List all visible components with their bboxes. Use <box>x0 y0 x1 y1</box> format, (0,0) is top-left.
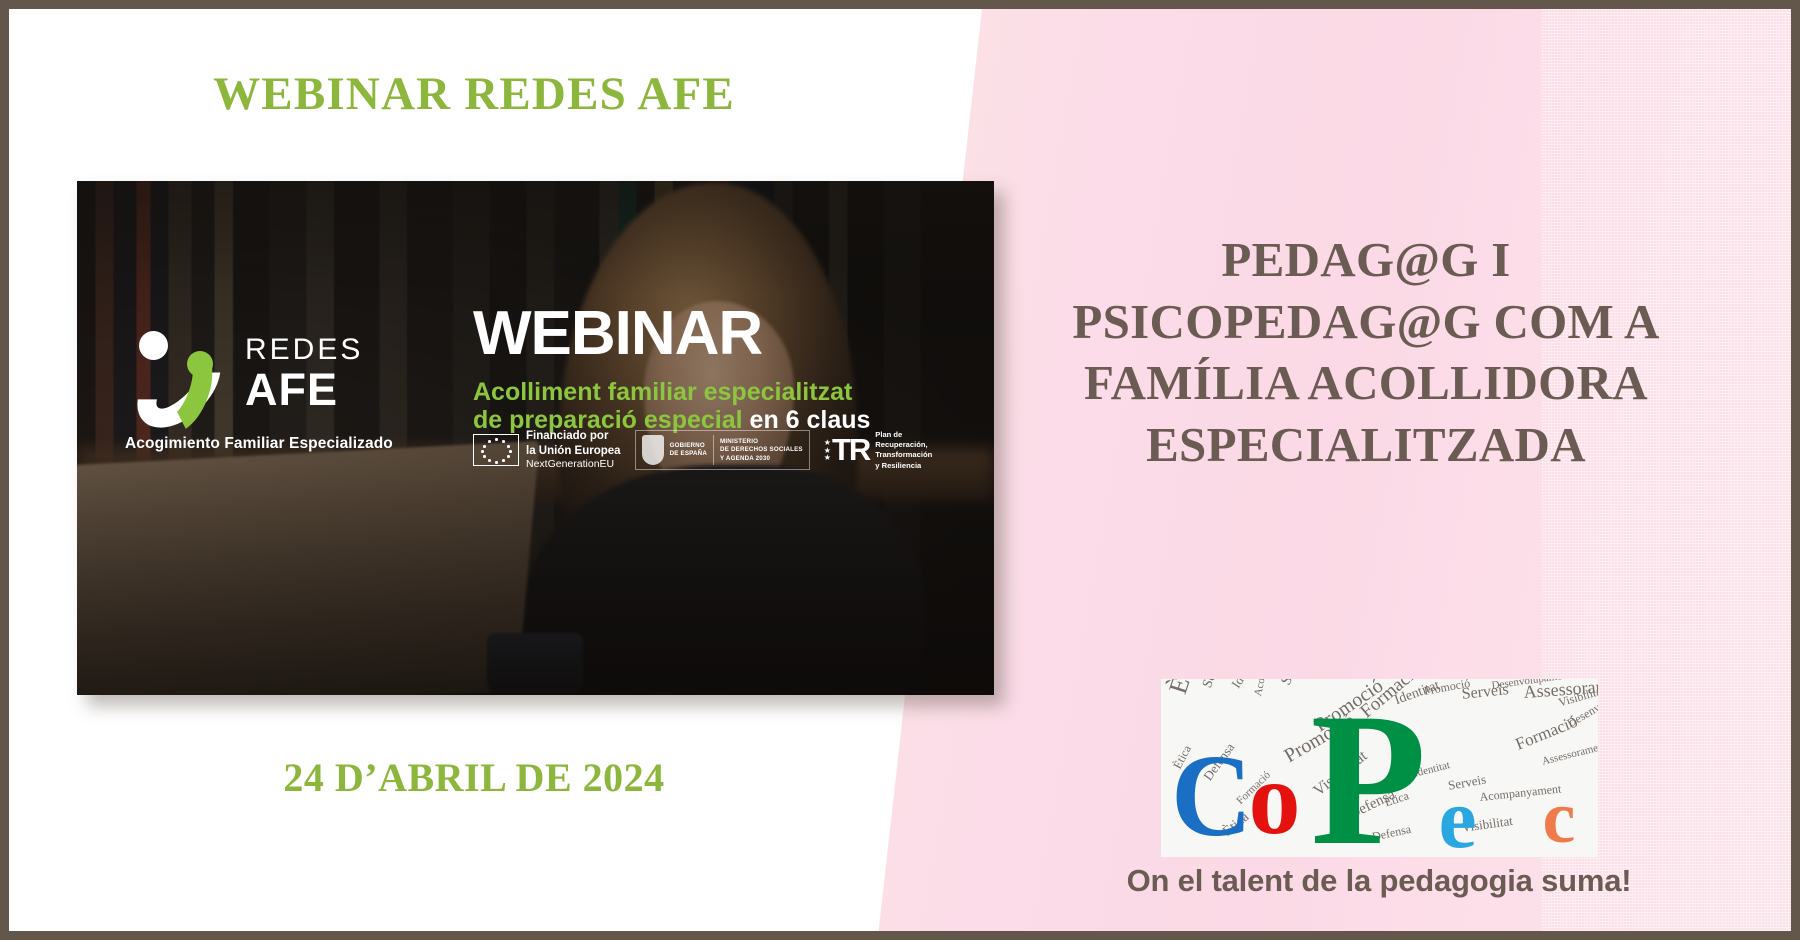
government-line2: DE ESPAÑA <box>670 450 707 458</box>
smile-mark-icon <box>125 331 235 423</box>
prtr-stars-icon: ★★★ <box>824 439 831 462</box>
event-date: 24 D’ABRIL DE 2024 <box>9 754 939 801</box>
page-title: WEBINAR REDES AFE <box>9 67 939 121</box>
redes-afe-logo: REDES AFE Acogimiento Familiar Especiali… <box>125 331 375 453</box>
eu-funding-logo: Financiado por la Unión Europea NextGene… <box>473 429 621 472</box>
smile-dot-green-icon <box>187 351 213 377</box>
wordcloud-word: Serveis <box>1201 679 1229 690</box>
government-text: GOBIERNO DE ESPAÑA <box>670 442 707 459</box>
banner-text-block: WEBINAR Acolliment familiar especialitza… <box>473 303 973 434</box>
right-column: PEDAG@G I PSICOPEDAG@G COM A FAMÍLIA ACO… <box>971 9 1791 931</box>
copec-letter-e: e <box>1439 775 1477 857</box>
session-title-line4: ESPECIALITZADA <box>971 414 1761 476</box>
ministry-text: MINISTERIO DE DERECHOS SOCIALES Y AGENDA… <box>720 438 803 463</box>
session-title-line3: FAMÍLIA ACOLLIDORA <box>971 352 1761 414</box>
spain-government-logo: GOBIERNO DE ESPAÑA MINISTERIO DE DERECHO… <box>635 430 810 470</box>
copec-letter-c2: c <box>1543 781 1576 855</box>
logo-divider <box>713 435 714 465</box>
eu-funding-line2: la Unión Europea <box>526 444 621 459</box>
funding-logos-row: Financiado por la Unión Europea NextGene… <box>473 429 932 472</box>
eu-funding-line3: NextGenerationEU <box>526 458 621 471</box>
eu-funding-line1: Financiado por <box>526 429 621 444</box>
wordcloud-word: Ètica <box>1165 679 1206 697</box>
government-line1: GOBIERNO <box>670 442 707 450</box>
wordcloud-word: Serveis <box>1279 679 1313 688</box>
prtr-mark-icon: ★★★ TR <box>824 437 870 463</box>
prtr-line3: Transformación <box>875 450 932 460</box>
webinar-banner-image: REDES AFE Acogimiento Familiar Especiali… <box>77 181 994 695</box>
copec-tagline: On el talent de la pedagogia suma! <box>1029 863 1729 899</box>
ministry-line2: DE DERECHOS SOCIALES <box>720 446 803 454</box>
prtr-text: Plan de Recuperación, Transformación y R… <box>875 430 932 472</box>
prtr-line2: Recuperación, <box>875 440 932 450</box>
smile-dot-white-icon <box>139 331 168 360</box>
prtr-line4: y Resiliencia <box>875 461 932 471</box>
copec-letter-p: P <box>1311 685 1427 857</box>
ministry-line1: MINISTERIO <box>720 438 803 446</box>
wordcloud-word: Assessorament <box>1541 741 1598 768</box>
wordcloud-word: Acompanyament <box>1253 679 1279 697</box>
session-title: PEDAG@G I PSICOPEDAG@G COM A FAMÍLIA ACO… <box>971 229 1761 476</box>
eu-flag-icon <box>473 434 519 466</box>
session-title-line1: PEDAG@G I <box>971 229 1761 291</box>
eu-funding-text: Financiado por la Unión Europea NextGene… <box>526 429 621 472</box>
copec-letter-o: o <box>1249 747 1301 851</box>
prtr-logo: ★★★ TR Plan de Recuperación, Transformac… <box>824 430 932 472</box>
prtr-line1: Plan de <box>875 430 932 440</box>
left-column: WEBINAR REDES AFE REDES AFE <box>9 9 989 931</box>
coat-of-arms-icon <box>642 435 664 465</box>
copec-wordcloud: ÈticaServeisIdentitatAcompanyamentServei… <box>1161 679 1598 857</box>
session-title-line2: PSICOPEDAG@G COM A <box>971 291 1761 353</box>
banner-webinar-label: WEBINAR <box>473 303 973 365</box>
banner-subtitle-line1: Acolliment familiar especialitzat <box>473 378 973 406</box>
copec-logo-block: ÈticaServeisIdentitatAcompanyamentServei… <box>1029 679 1729 899</box>
slide-canvas: WEBINAR REDES AFE REDES AFE <box>0 0 1800 940</box>
logo-redes-text: REDES <box>245 335 363 365</box>
prtr-letters: TR <box>832 437 869 463</box>
ministry-line3: Y AGENDA 2030 <box>720 455 803 463</box>
logo-afe-text: AFE <box>245 367 363 412</box>
redes-afe-wordmark: REDES AFE <box>245 331 363 412</box>
copec-letter-c: C <box>1171 737 1252 855</box>
